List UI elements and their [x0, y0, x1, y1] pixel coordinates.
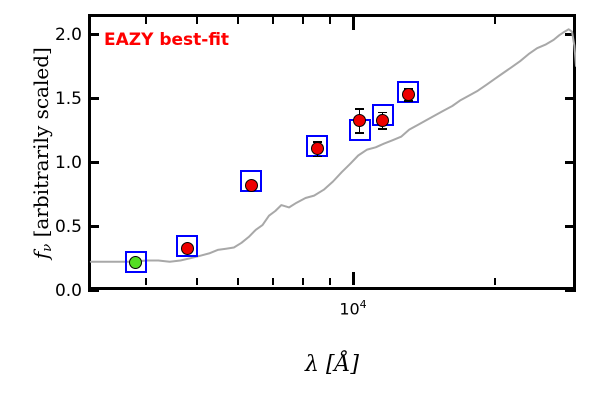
y-axis-label-subscript: ν	[40, 244, 55, 252]
figure-canvas: fν [arbitrarily scaled] 2.0 1.5 1.0 0.5 …	[0, 0, 600, 400]
observed-photometry-point	[311, 142, 324, 155]
x-tick-label-exponent: 4	[360, 298, 367, 311]
x-tick-label-mantissa: 10	[339, 299, 359, 318]
observed-photometry-point	[245, 179, 258, 192]
observed-photometry-point	[402, 88, 415, 101]
error-bar-cap	[355, 108, 364, 110]
data-layer	[88, 14, 576, 290]
observed-photometry-point	[353, 114, 366, 127]
observed-photometry-point	[181, 242, 194, 255]
error-bar-cap	[355, 132, 364, 134]
y-tick-label-0-5: 0.5	[0, 217, 82, 237]
x-tick-label-10000: 104	[318, 298, 388, 318]
y-tick-label-1-5: 1.5	[0, 89, 82, 109]
y-axis-label-units: [arbitrarily scaled]	[29, 47, 53, 237]
error-bar-cap	[378, 128, 387, 130]
y-tick-label-1-0: 1.0	[0, 153, 82, 173]
y-axis-label-f: f	[29, 252, 53, 259]
observed-photometry-point	[376, 114, 389, 127]
error-bar-cap	[313, 156, 322, 158]
spectrum-line	[88, 14, 576, 290]
y-tick-label-0-0: 0.0	[0, 281, 82, 301]
x-axis-label-lambda: λ	[305, 352, 319, 377]
y-tick-label-2-0: 2.0	[0, 25, 82, 45]
best-fit-template-curve	[91, 29, 576, 261]
x-axis-label-unit: [Å]	[326, 352, 359, 377]
x-axis-label: λ [Å]	[88, 352, 576, 377]
